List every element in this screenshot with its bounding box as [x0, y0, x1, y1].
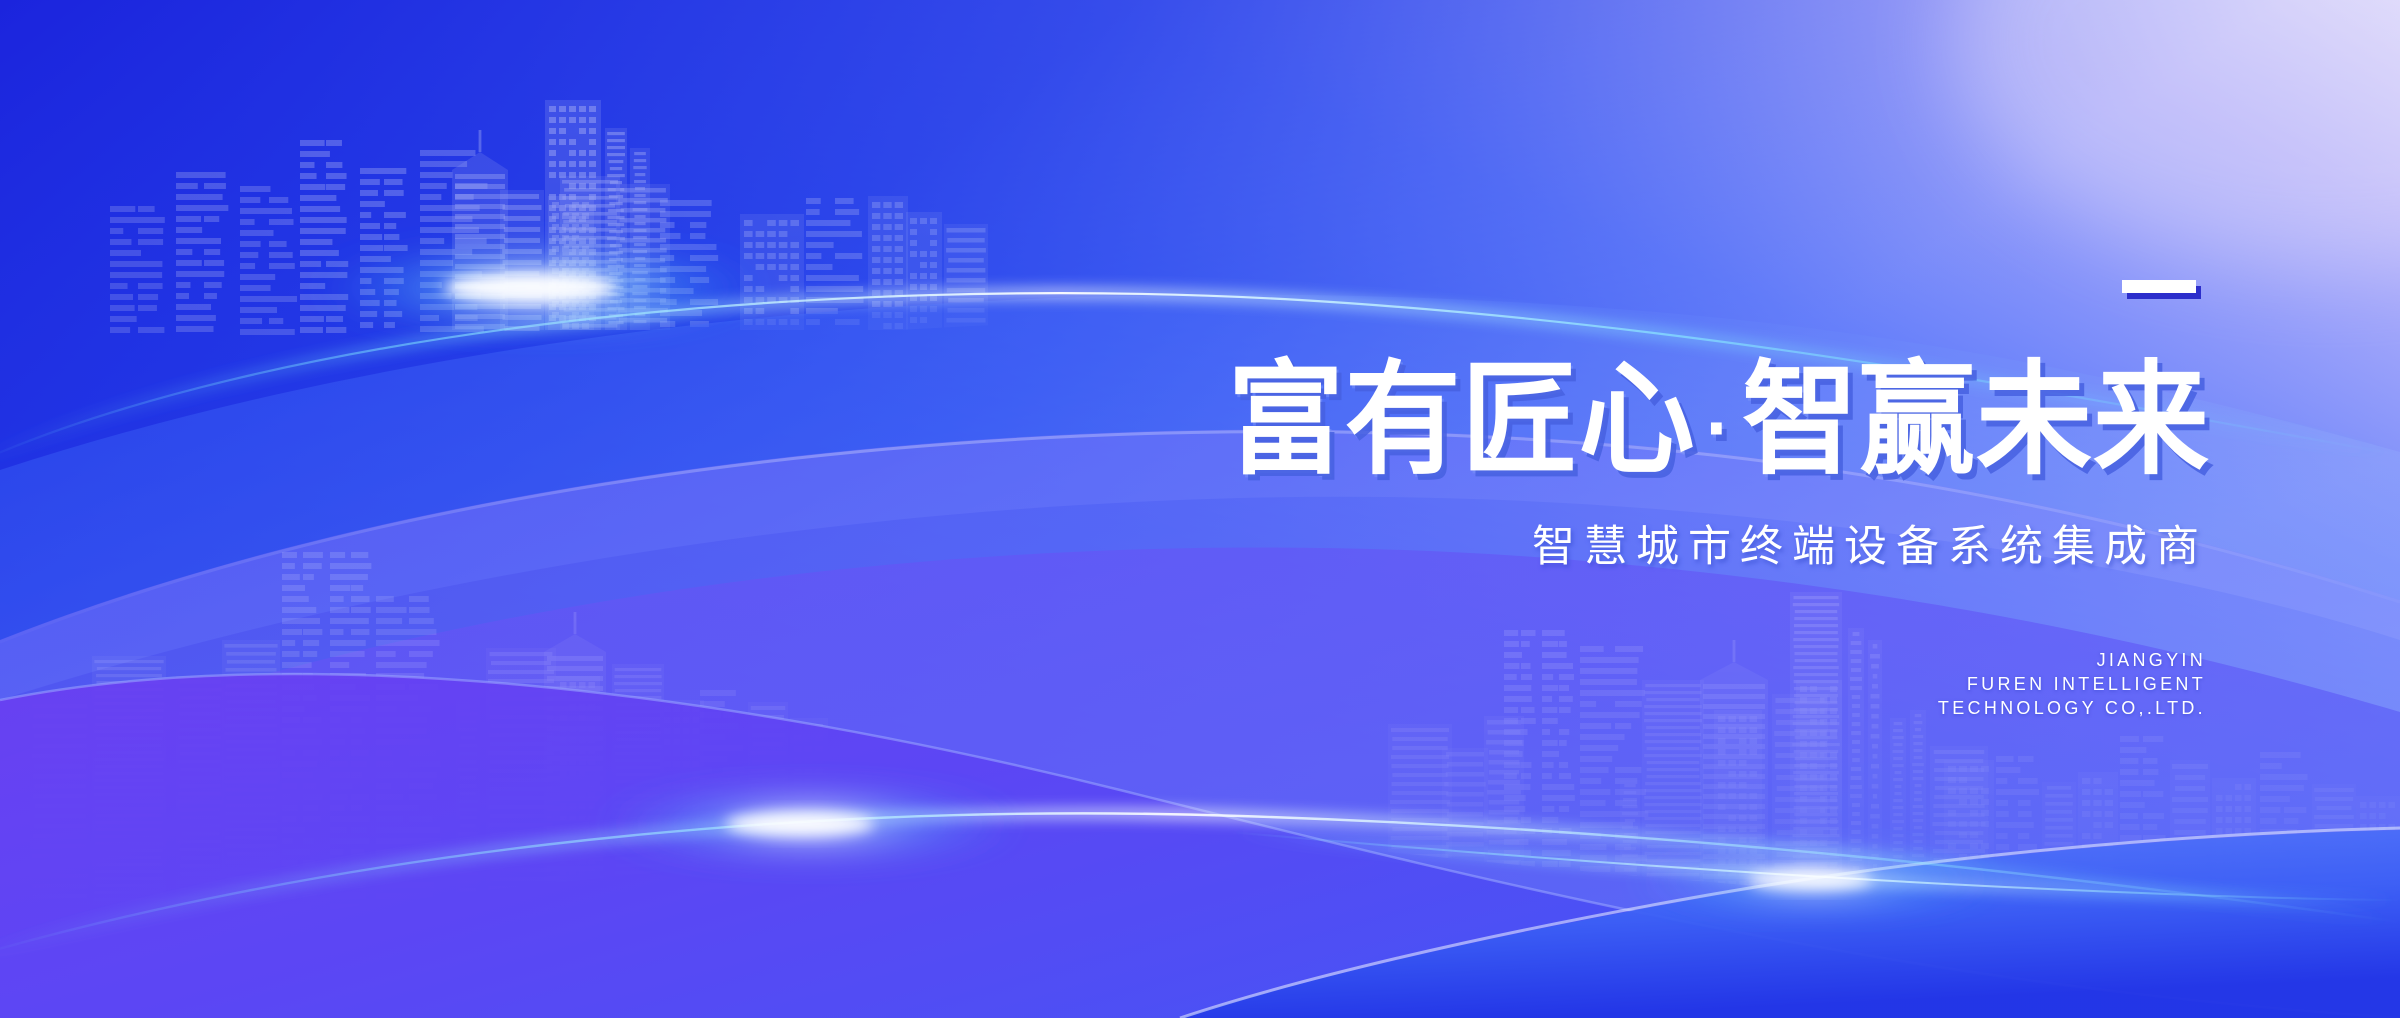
page-subtitle: 智慧城市终端设备系统集成商	[1100, 512, 2208, 574]
company-line-3: TECHNOLOGY CO,.LTD.	[1600, 696, 2206, 720]
page-title: 富有匠心·智赢未来	[1060, 358, 2210, 481]
company-line-2: FUREN INTELLIGENT	[1600, 672, 2206, 696]
headline-left: 富有匠心	[1228, 351, 1696, 489]
headline-separator: ·	[1696, 384, 1742, 474]
poster-canvas: 富有匠心·智赢未来 智慧城市终端设备系统集成商 JIANGYIN FUREN I…	[0, 0, 2400, 1018]
accent-dash-icon	[2122, 280, 2196, 293]
company-line-1: JIANGYIN	[1600, 648, 2206, 672]
text-layer: 富有匠心·智赢未来 智慧城市终端设备系统集成商 JIANGYIN FUREN I…	[0, 0, 2400, 1018]
headline-right: 智赢未来	[1742, 351, 2210, 489]
company-name-block: JIANGYIN FUREN INTELLIGENT TECHNOLOGY CO…	[1600, 648, 2206, 720]
